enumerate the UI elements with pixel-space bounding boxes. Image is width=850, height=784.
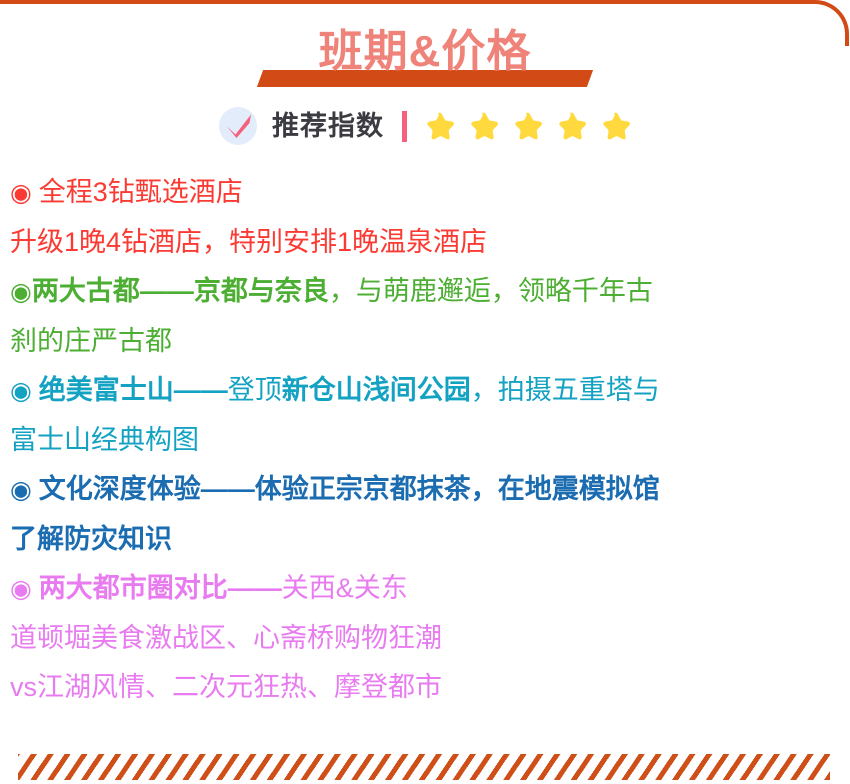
highlight-text: 刹的庄严古都 bbox=[10, 326, 172, 356]
highlight-text: 道顿堀美食激战区、心斋桥购物狂潮 bbox=[10, 623, 442, 653]
highlight-text: ，与萌鹿邂逅，领略千年古 bbox=[329, 276, 653, 306]
highlight-line: ◉ 绝美富士山——登顶新仓山浅间公园，拍摄五重塔与 bbox=[10, 366, 838, 416]
highlight-text: 登顶 bbox=[228, 375, 282, 405]
star-icon bbox=[599, 110, 632, 143]
vertical-bar-divider bbox=[402, 111, 407, 142]
highlight-text: 了解防灾知识 bbox=[10, 524, 172, 554]
star-icon bbox=[555, 110, 588, 143]
metro-compare-block: ◉ 两大都市圈对比——关西&关东 道顿堀美食激战区、心斋桥购物狂潮vs江湖风情、… bbox=[10, 564, 838, 712]
highlight-text: 富士山经典构图 bbox=[10, 425, 199, 455]
highlight-line: 升级1晚4钻酒店，特别安排1晚温泉酒店 bbox=[10, 218, 838, 267]
highlight-line: ◉ 文化深度体验——体验正宗京都抹茶，在地震模拟馆 bbox=[10, 465, 838, 515]
page-title: 班期&价格 bbox=[319, 24, 532, 80]
highlight-text: 两大古都——京都与奈良 bbox=[32, 276, 329, 306]
highlight-text: 升级1晚4钻酒店，特别安排1晚温泉酒店 bbox=[10, 227, 487, 257]
ancient-capitals-block: ◉两大古都——京都与奈良，与萌鹿邂逅，领略千年古刹的庄严古都 bbox=[10, 267, 838, 366]
hotel-block: ◉ 全程3钻甄选酒店升级1晚4钻酒店，特别安排1晚温泉酒店 bbox=[10, 168, 838, 267]
highlight-text: 关西&关东 bbox=[282, 573, 408, 603]
recommendation-rating-row: 推荐指数 bbox=[0, 104, 850, 148]
highlight-text: ，拍摄五重塔与 bbox=[471, 375, 660, 405]
mount-fuji-block: ◉ 绝美富士山——登顶新仓山浅间公园，拍摄五重塔与富士山经典构图 bbox=[10, 366, 838, 465]
highlight-line: ◉两大古都——京都与奈良，与萌鹿邂逅，领略千年古 bbox=[10, 267, 838, 317]
highlight-line: vs江湖风情、二次元狂热、摩登都市 bbox=[10, 663, 838, 712]
bullet-icon: ◉ bbox=[10, 179, 39, 207]
highlight-text: 文化深度体验——体验正宗京都抹茶，在地震模拟馆 bbox=[39, 474, 660, 504]
highlight-line: ◉ 两大都市圈对比——关西&关东 bbox=[10, 564, 838, 614]
bullet-icon: ◉ bbox=[10, 278, 32, 306]
page-title-block: 班期&价格 bbox=[0, 24, 850, 86]
bullet-icon: ◉ bbox=[10, 377, 39, 405]
culture-block: ◉ 文化深度体验——体验正宗京都抹茶，在地震模拟馆了解防灾知识 bbox=[10, 465, 838, 564]
promo-card: 班期&价格 推荐指数 bbox=[0, 0, 850, 784]
highlight-text: 绝美富士山—— bbox=[39, 375, 228, 405]
highlight-text: vs江湖风情、二次元狂热、摩登都市 bbox=[10, 672, 442, 702]
recommendation-label: 推荐指数 bbox=[272, 113, 384, 140]
highlight-line: 了解防灾知识 bbox=[10, 515, 838, 564]
highlight-text: 新仓山浅间公园 bbox=[282, 375, 471, 405]
highlight-text: 两大都市圈对比—— bbox=[39, 573, 282, 603]
highlight-line: 道顿堀美食激战区、心斋桥购物狂潮 bbox=[10, 614, 838, 663]
bullet-icon: ◉ bbox=[10, 476, 39, 504]
star-icon bbox=[467, 110, 500, 143]
bullet-icon: ◉ bbox=[10, 575, 39, 603]
star-icon bbox=[423, 110, 456, 143]
check-circle-icon bbox=[218, 106, 258, 146]
highlight-line: 富士山经典构图 bbox=[10, 416, 838, 465]
star-rating bbox=[423, 110, 632, 143]
star-icon bbox=[511, 110, 544, 143]
highlight-text: 全程3钻甄选酒店 bbox=[39, 177, 243, 207]
highlight-line: ◉ 全程3钻甄选酒店 bbox=[10, 168, 838, 218]
diagonal-stripe-band bbox=[18, 754, 830, 780]
highlight-line: 刹的庄严古都 bbox=[10, 317, 838, 366]
highlight-list: ◉ 全程3钻甄选酒店升级1晚4钻酒店，特别安排1晚温泉酒店◉两大古都——京都与奈… bbox=[0, 168, 850, 712]
